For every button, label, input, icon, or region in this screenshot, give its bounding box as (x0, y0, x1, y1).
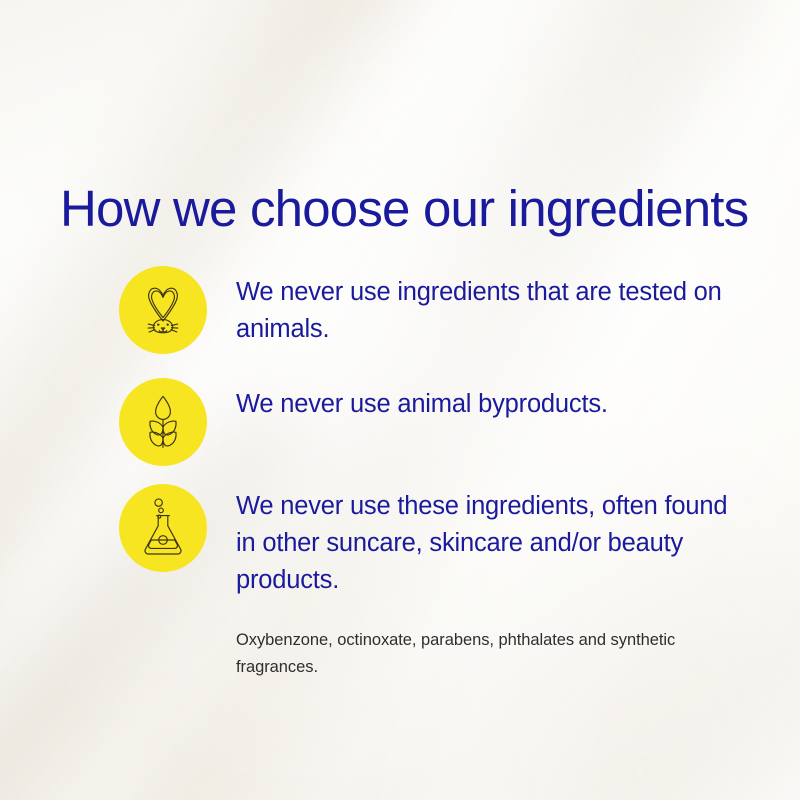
content-layer: How we choose our ingredients (0, 0, 800, 800)
plant-sprig-droplet-icon (138, 394, 188, 450)
badge-cruelty-free (119, 266, 207, 354)
claim-text: We never use ingredients that are tested… (236, 274, 736, 348)
claim-text: We never use animal byproducts. (236, 386, 736, 423)
chemistry-flask-icon (137, 498, 189, 558)
badge-plant-based (119, 378, 207, 466)
bunny-heart-ears-icon (134, 281, 192, 339)
claim-text: We never use these ingredients, often fo… (236, 488, 728, 599)
badge-no-harsh-chemicals (119, 484, 207, 572)
ingredients-info-card: How we choose our ingredients (0, 0, 800, 800)
page-title: How we choose our ingredients (60, 180, 748, 238)
fine-print-excluded-ingredients: Oxybenzone, octinoxate, parabens, phthal… (236, 627, 706, 681)
